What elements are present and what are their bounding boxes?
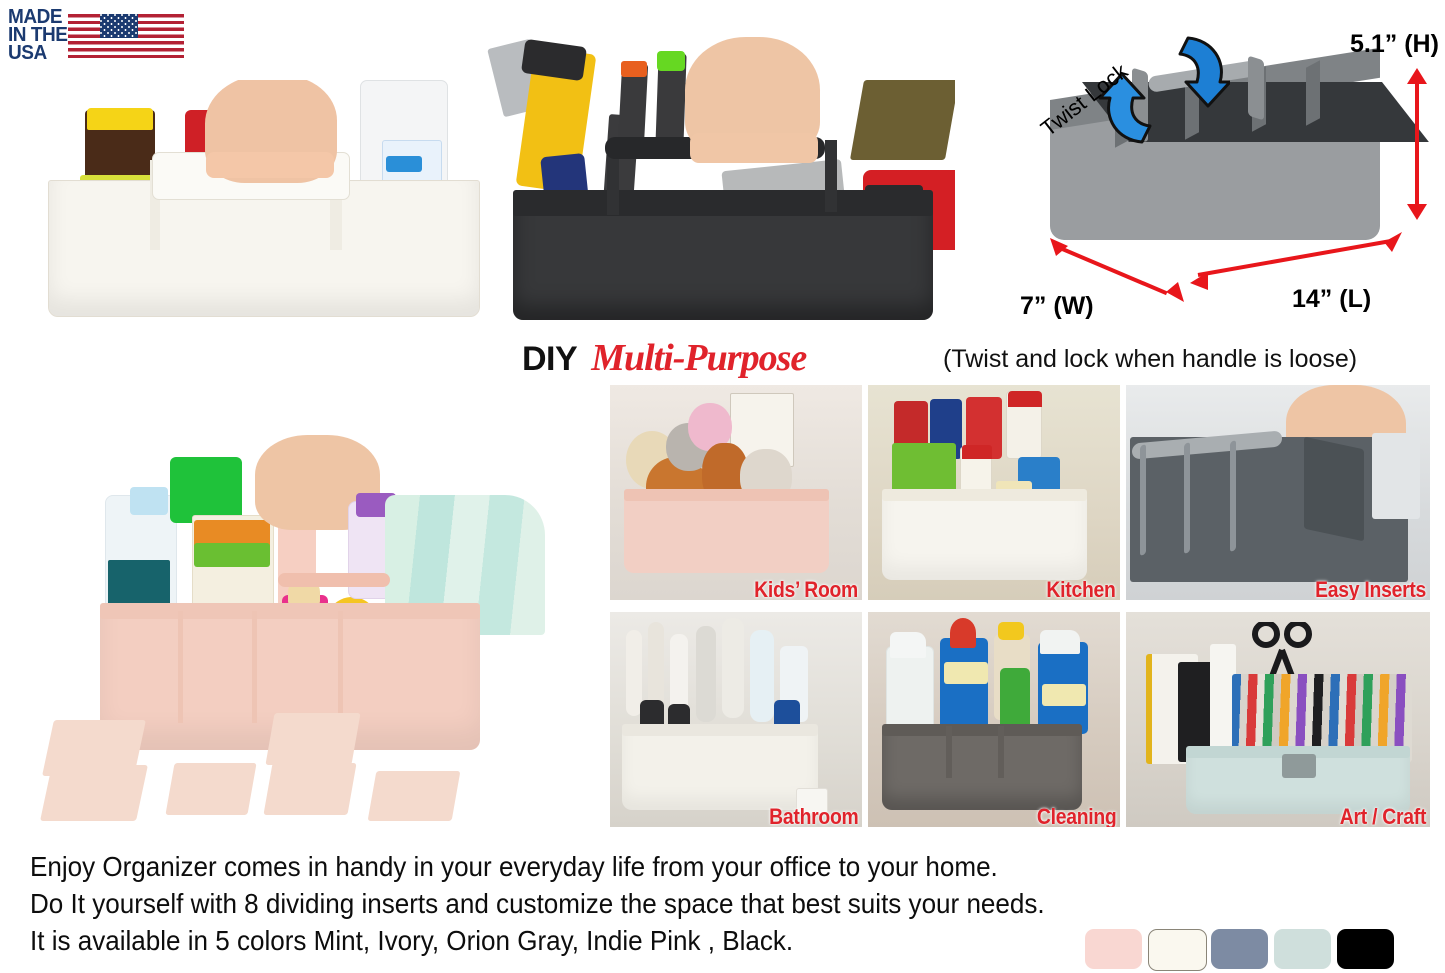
length-arrow-head-right xyxy=(1382,232,1402,252)
description-line-1: Enjoy Organizer comes in handy in your e… xyxy=(30,848,1025,885)
cell-label-kids-room: Kids’ Room xyxy=(754,577,858,600)
photo-white-caddy-medical xyxy=(30,80,490,320)
clorox-cap-1 xyxy=(950,618,976,648)
hex-key-set xyxy=(850,80,955,160)
green-spray xyxy=(1000,668,1030,730)
spray-bottle-1 xyxy=(886,646,934,734)
cell-label-art-craft: Art / Craft xyxy=(1340,804,1426,827)
use-case-bathroom[interactable]: Bathroom xyxy=(610,612,862,827)
flag-stars xyxy=(100,14,138,38)
pink-caddy-handle xyxy=(278,573,390,587)
kitchen-bottle-cap xyxy=(962,445,992,459)
black-caddy-rim xyxy=(513,190,933,216)
description-line-3: It is available in 5 colors Mint, Ivory,… xyxy=(30,922,1025,959)
cell-label-cleaning: Cleaning xyxy=(1036,804,1116,827)
pink-divider-3 xyxy=(338,611,343,723)
use-case-cleaning[interactable]: Cleaning xyxy=(868,612,1120,827)
art-caddy-handle-base xyxy=(1282,754,1316,778)
pink-divider-2 xyxy=(252,611,257,723)
white-caddy-body xyxy=(48,180,480,317)
cell-label-easy-inserts: Easy Inserts xyxy=(1315,577,1426,600)
loose-insert-4 xyxy=(263,763,356,815)
use-case-easy-inserts[interactable]: Easy Inserts xyxy=(1126,385,1430,600)
bottle-bathroom-1 xyxy=(750,630,774,722)
pink-caddy-rim xyxy=(100,603,480,619)
made-in-usa-badge: MADE IN THE USA xyxy=(8,6,184,64)
photo-pink-caddy-baby xyxy=(30,435,580,825)
swatch-indie-pink[interactable] xyxy=(1085,929,1142,969)
use-case-kids-room[interactable]: Kids’ Room xyxy=(610,385,862,600)
loose-insert-6 xyxy=(368,771,461,821)
diagram-handle-post-right xyxy=(1248,55,1264,120)
kitchen-caddy xyxy=(882,495,1087,580)
spray-trigger-1 xyxy=(890,632,926,658)
swatch-black[interactable] xyxy=(1337,929,1394,969)
insert-slot-3 xyxy=(1230,440,1236,552)
made-in-usa-text: MADE IN THE USA xyxy=(8,8,99,62)
black-caddy-body xyxy=(513,200,933,320)
insert-slot-1 xyxy=(1140,444,1146,556)
yellow-cap xyxy=(998,622,1024,640)
loose-insert-3 xyxy=(165,763,256,815)
height-label: 5.1” (H) xyxy=(1350,30,1439,59)
loose-insert-2 xyxy=(40,765,148,821)
bathroom-caddy xyxy=(622,730,818,810)
cleaning-caddy xyxy=(882,730,1082,810)
description-line-2: Do It yourself with 8 dividing inserts a… xyxy=(30,885,1025,922)
cleaning-divider-1 xyxy=(946,726,952,778)
clorox-bottle-1 xyxy=(940,638,988,734)
divider-being-inserted xyxy=(1304,437,1364,542)
use-case-kitchen[interactable]: Kitchen xyxy=(868,385,1120,600)
wipes-band-green xyxy=(194,543,270,567)
width-arrow-head-left xyxy=(1050,236,1068,256)
usa-flag-icon xyxy=(100,14,184,58)
cell-label-kitchen: Kitchen xyxy=(1047,577,1116,600)
swatch-mint[interactable] xyxy=(1274,929,1331,969)
pink-divider-1 xyxy=(178,611,183,723)
loose-insert-5 xyxy=(265,713,360,765)
width-label: 7” (W) xyxy=(1020,292,1094,321)
headline-multi-purpose: Multi-Purpose xyxy=(591,337,806,379)
alcohol-label-band xyxy=(386,156,422,172)
fingers xyxy=(206,152,334,178)
baby-powder-label xyxy=(108,560,170,608)
black-divider-2 xyxy=(825,140,837,212)
headline-diy: DIY xyxy=(522,340,577,378)
length-arrow-head-left xyxy=(1190,270,1208,290)
toothbrush-5 xyxy=(722,618,744,718)
swatch-ivory[interactable] xyxy=(1148,929,1207,971)
spray-trigger-2 xyxy=(1040,630,1080,654)
twist-lock-note: (Twist and lock when handle is loose) xyxy=(943,345,1357,374)
kids-caddy xyxy=(624,495,829,573)
use-case-art-craft[interactable]: Art / Craft xyxy=(1126,612,1430,827)
toothbrush-4 xyxy=(696,626,716,722)
screwdriver-2-tip xyxy=(657,51,685,71)
swatch-orion-gray[interactable] xyxy=(1211,929,1268,969)
flag-canton xyxy=(100,14,138,38)
vitamin-cap xyxy=(87,108,153,130)
inserts-caddy-far-wall xyxy=(1372,433,1420,519)
kids-caddy-rim xyxy=(624,489,829,501)
use-case-grid: Kids’ Room Kitchen Easy Inserts xyxy=(610,385,1430,830)
cleaning-divider-2 xyxy=(998,726,1004,778)
caddy-dimension-diagram: Twist Lock 5.1” (H) 14” (L) 7” (W) xyxy=(1020,20,1445,330)
kitchen-jar-white-cap xyxy=(1008,391,1042,407)
inserts-caddy-body xyxy=(1130,437,1408,582)
width-arrow-shaft xyxy=(1059,246,1167,295)
bathroom-caddy-rim xyxy=(622,724,818,736)
powder-cap xyxy=(130,487,168,515)
cleaning-caddy-rim xyxy=(882,724,1082,736)
insert-slot-2 xyxy=(1184,442,1190,554)
cell-label-bathroom: Bathroom xyxy=(769,804,858,827)
width-arrow-head-right xyxy=(1166,282,1184,302)
clorox-label-2 xyxy=(1042,684,1086,706)
clorox-label-1 xyxy=(944,662,988,684)
length-arrow-shaft xyxy=(1198,239,1394,277)
color-swatches xyxy=(1085,929,1435,971)
headline: DIYMulti-Purpose xyxy=(522,336,806,376)
bottom-description: Enjoy Organizer comes in handy in your e… xyxy=(30,848,1100,959)
height-arrow-head-top xyxy=(1407,68,1427,84)
length-label: 14” (L) xyxy=(1292,285,1371,314)
photo-black-caddy-tools xyxy=(485,25,955,320)
badge-line-3: USA xyxy=(8,44,99,62)
screwdriver-1-tip xyxy=(621,61,647,77)
kitchen-caddy-rim xyxy=(882,489,1087,501)
green-container xyxy=(170,457,242,523)
height-arrow-head-bottom xyxy=(1407,204,1427,220)
diagram-divider-4 xyxy=(1306,60,1320,125)
height-arrow-shaft xyxy=(1415,80,1419,208)
fingers-tools xyxy=(690,133,818,163)
